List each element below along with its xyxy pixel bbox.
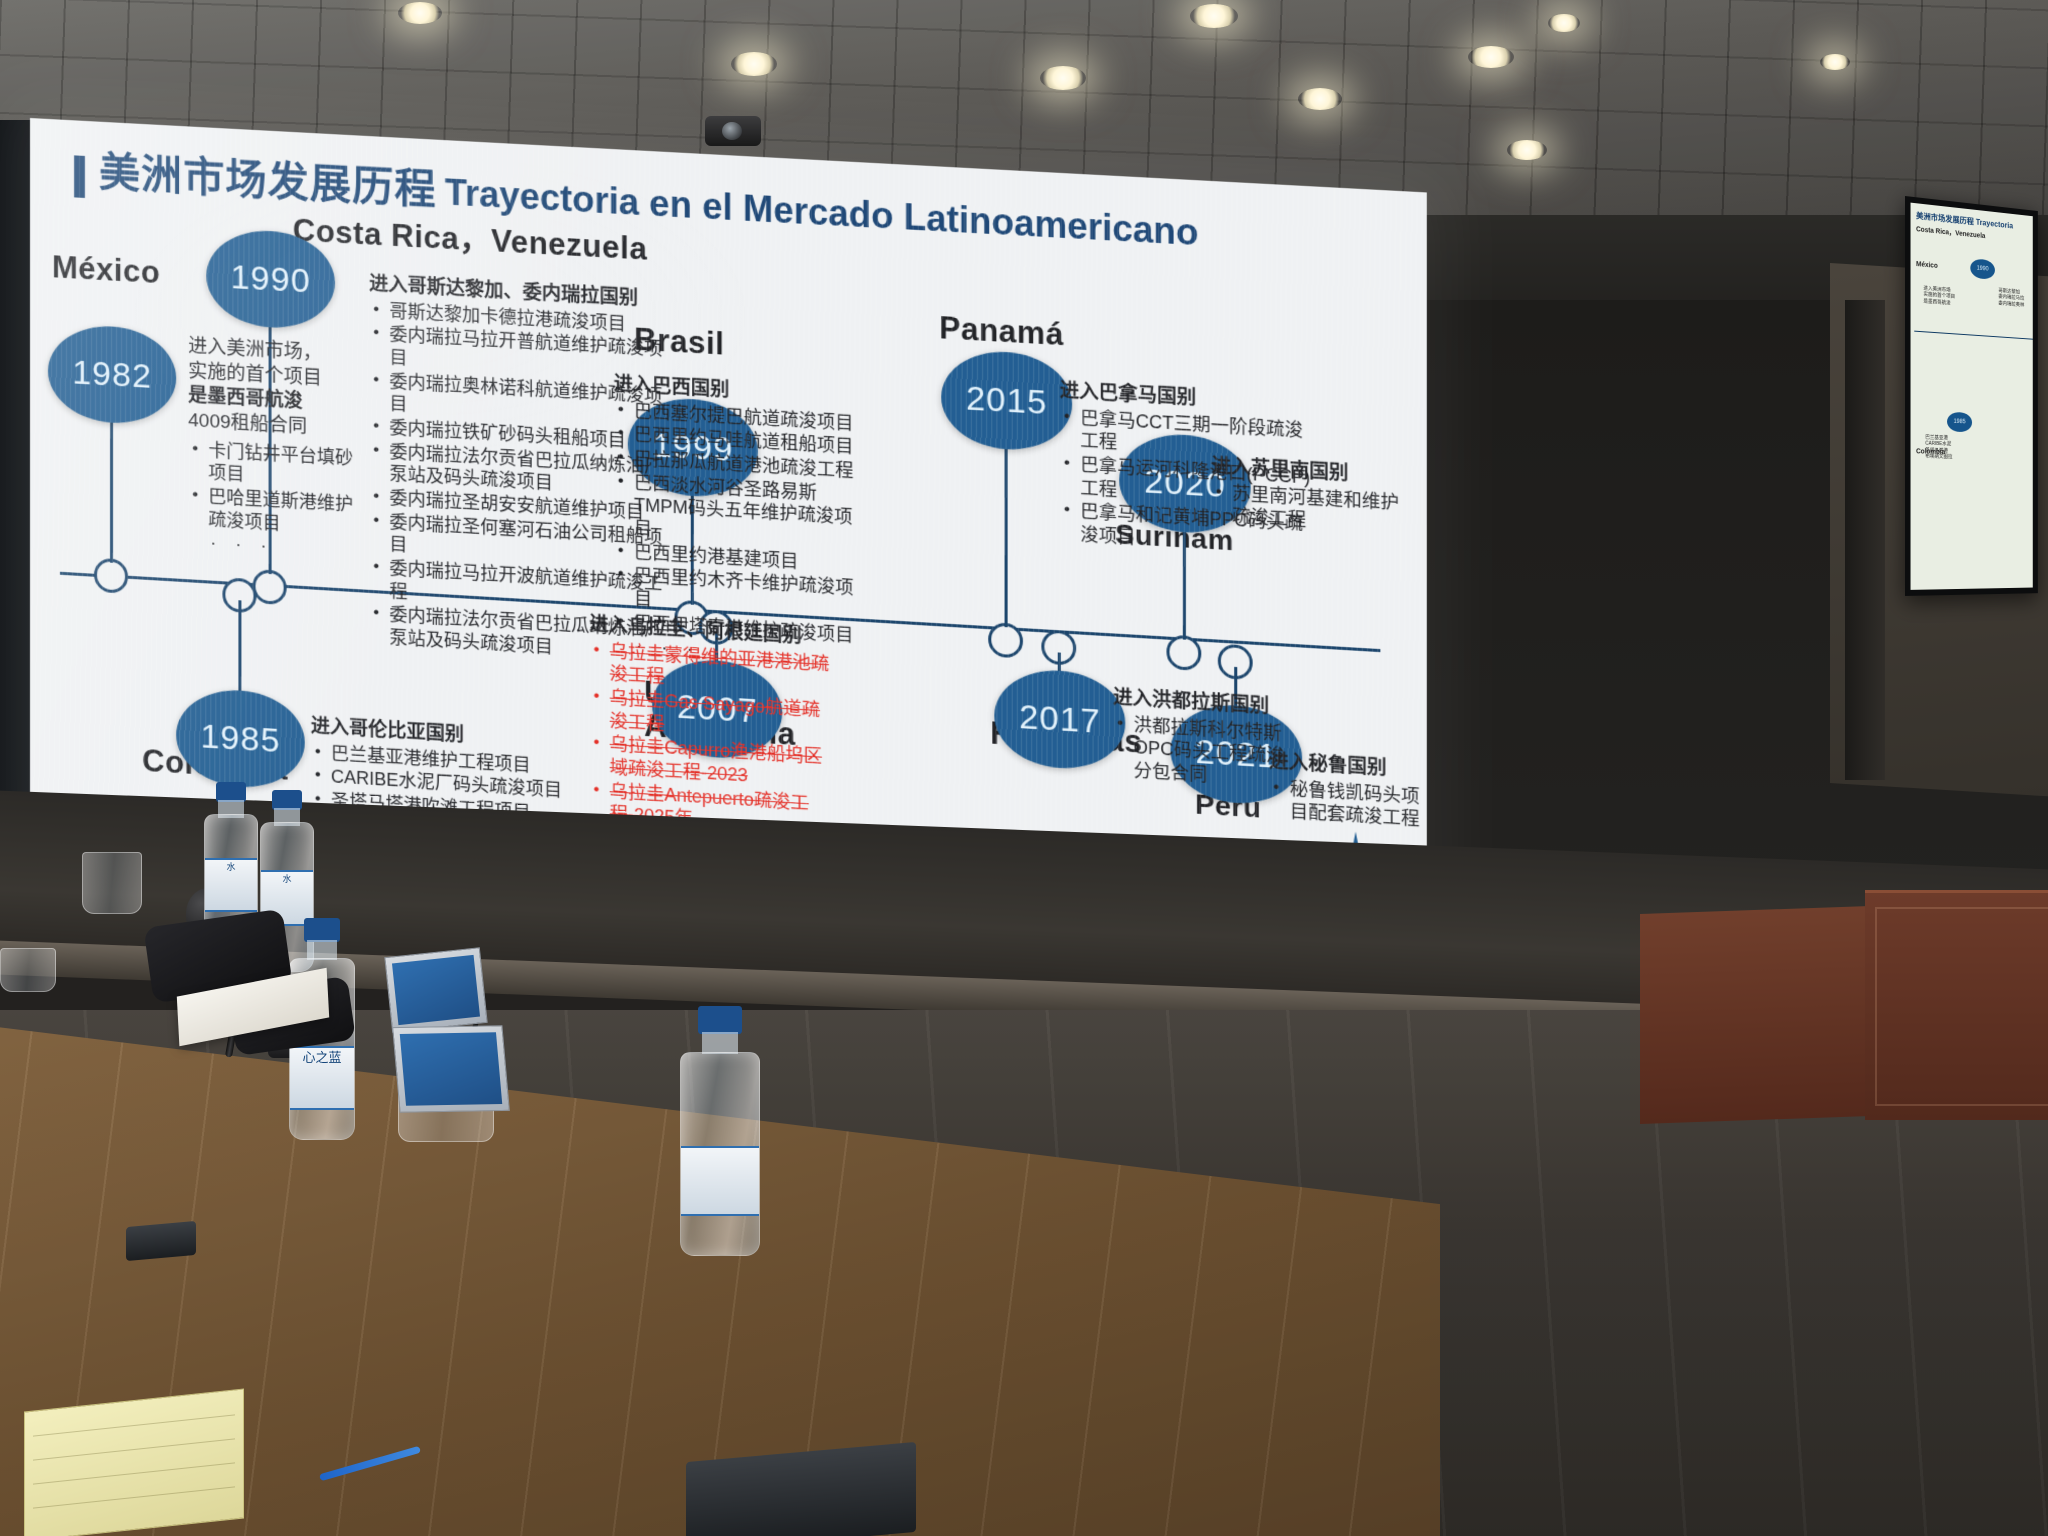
side-monitor-text-block-1: 进入美洲市场实施的首个项目是墨西哥航浚 xyxy=(1923,286,1966,308)
mexico-bullets: 卡门钻井平台填砂项目 巴哈里道斯港维护疏浚项目 · · · xyxy=(188,438,369,564)
notepad-line xyxy=(33,1414,235,1436)
conference-room: 美洲市场发展历程 Trayectoria en el Mercado Latin… xyxy=(0,0,2048,1536)
side-monitor-year-1985: 1985 xyxy=(1947,412,1972,433)
water-glass[interactable] xyxy=(0,948,56,992)
bottle-label xyxy=(681,1146,759,1216)
camera-lens-icon xyxy=(722,122,742,140)
honduras-bullets: 洪都拉斯科尔特斯OPC码头工程疏浚分包合同 xyxy=(1113,712,1286,791)
delegate-nameplate xyxy=(384,947,487,1033)
entry-block-surinam: 进入苏里南国别 苏里南河基建和维护疏浚工程 xyxy=(1212,455,1414,540)
title-accent-bar xyxy=(74,155,85,198)
bottle-neck xyxy=(307,940,337,960)
ceiling-light xyxy=(1298,88,1342,110)
bottle-label: 水 xyxy=(205,858,257,912)
side-monitor-text-block-3: 巴兰基亚港CARIBE水泥圣塔马塔港布埃纳文图拉 xyxy=(1925,435,1972,461)
ceiling-light xyxy=(1548,14,1580,32)
ceiling-light xyxy=(1040,66,1086,90)
entry-block-peru: 进入秘鲁国别 秘鲁钱凯码头项目配套疏浚工程 xyxy=(1269,750,1424,833)
side-monitor-label-mexico: México xyxy=(1916,261,1938,270)
water-cup[interactable] xyxy=(82,852,142,914)
water-bottle-4[interactable] xyxy=(672,1006,768,1256)
year-bubble-1982[interactable]: 1982 xyxy=(48,323,176,426)
ceiling-light xyxy=(731,52,777,76)
timeline-stem xyxy=(1005,449,1008,627)
bottle-neck xyxy=(702,1032,738,1054)
mexico-paragraph: 进入美洲市场， 实施的首个项目 是墨西哥航浚 4009租船合同 xyxy=(188,335,369,444)
side-monitor-screen: 美洲市场发展历程 Trayectoria Costa Rica，Venezuel… xyxy=(1911,203,2033,590)
bottle-cap xyxy=(272,790,302,810)
side-monitor-title-es: Trayectoria xyxy=(1976,218,2013,231)
peru-bullets: 秘鲁钱凯码头项目配套疏浚工程 xyxy=(1269,776,1424,831)
ceiling-light xyxy=(1507,140,1547,160)
entry-block-mexico: 进入美洲市场， 实施的首个项目 是墨西哥航浚 4009租船合同 卡门钻井平台填砂… xyxy=(188,335,369,565)
slide-title-cn: 美洲市场发展历程 xyxy=(99,152,437,211)
ceiling-light xyxy=(1820,54,1850,70)
country-label-mexico: México xyxy=(52,249,160,291)
bottle-cap xyxy=(698,1006,742,1034)
year-bubble-2017[interactable]: 2017 xyxy=(994,667,1125,772)
timeline-stem xyxy=(110,423,113,563)
notepad-line xyxy=(33,1438,235,1460)
timeline-node-1982 xyxy=(94,558,128,594)
country-label-panama: Panamá xyxy=(939,310,1064,353)
notepad-line xyxy=(33,1462,235,1484)
ceiling-light xyxy=(1190,4,1238,28)
side-monitor-year-1990: 1990 xyxy=(1970,258,1995,280)
notepad-line xyxy=(33,1486,235,1508)
bottle-cap xyxy=(304,918,340,942)
side-monitor-text-block-2: 哥斯达黎加委内瑞拉马拉委内瑞拉奥林 xyxy=(1998,288,2032,309)
bottle-cap xyxy=(216,782,246,802)
wood-cabinet-left xyxy=(1640,906,1870,1124)
nameplate-inner xyxy=(392,955,480,1025)
side-monitor[interactable]: 美洲市场发展历程 Trayectoria Costa Rica，Venezuel… xyxy=(1905,196,2038,596)
list-item: 秘鲁钱凯码头项目配套疏浚工程 xyxy=(1269,776,1424,831)
wall-pillar xyxy=(1845,300,1885,780)
tablet-device[interactable] xyxy=(126,1221,196,1261)
timeline-node-1990 xyxy=(252,569,286,605)
uruguay-struck-bullets: 乌拉圭蒙得维的亚港港池疏浚工程 乌拉圭Gas Sayago航道疏浚工程 乌拉圭C… xyxy=(589,639,833,839)
yellow-notepad xyxy=(24,1388,244,1536)
year-bubble-2015[interactable]: 2015 xyxy=(941,348,1072,452)
entry-block-honduras: 进入洪都拉斯国别 洪都拉斯科尔特斯OPC码头工程疏浚分包合同 xyxy=(1113,686,1286,792)
delegate-nameplate-2 xyxy=(392,1025,510,1113)
ceiling-light xyxy=(1468,46,1514,68)
ceiling-light xyxy=(398,2,442,24)
list-item: 洪都拉斯科尔特斯OPC码头工程疏浚分包合同 xyxy=(1113,712,1286,791)
wood-cabinet-right xyxy=(1865,890,2048,1120)
bottle-label: 心之蓝 xyxy=(290,1046,354,1110)
side-monitor-axis xyxy=(1914,331,2033,340)
nameplate-inner xyxy=(400,1032,502,1105)
